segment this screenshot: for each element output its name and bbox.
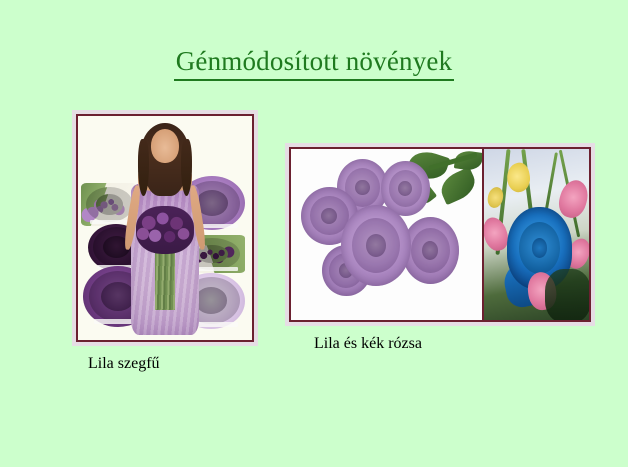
- bouquet-stems: [155, 245, 174, 310]
- purple-roses-photo: [291, 149, 482, 320]
- model-in-purple-gown: [125, 120, 205, 335]
- roses-pair-inner: [289, 147, 591, 322]
- carnation-poster-inner: [76, 114, 254, 342]
- carnation-caption: Lila szegfű: [88, 354, 160, 374]
- page-title-text: Génmódosított növények: [174, 44, 455, 81]
- model-face: [151, 129, 180, 163]
- carnation-bouquet: [136, 206, 194, 253]
- dark-foliage: [545, 269, 589, 320]
- roses-caption: Lila és kék rózsa: [314, 334, 422, 354]
- carnation-poster-image[interactable]: [72, 110, 258, 346]
- page-title: Génmódosított növények: [0, 44, 628, 81]
- roses-pair-image[interactable]: [285, 143, 595, 326]
- purple-rose-bloom: [341, 205, 412, 285]
- slide-canvas: Génmódosított növények: [0, 0, 628, 467]
- blue-rose-photo: [482, 149, 589, 320]
- carnation-poster-artwork: [78, 116, 252, 340]
